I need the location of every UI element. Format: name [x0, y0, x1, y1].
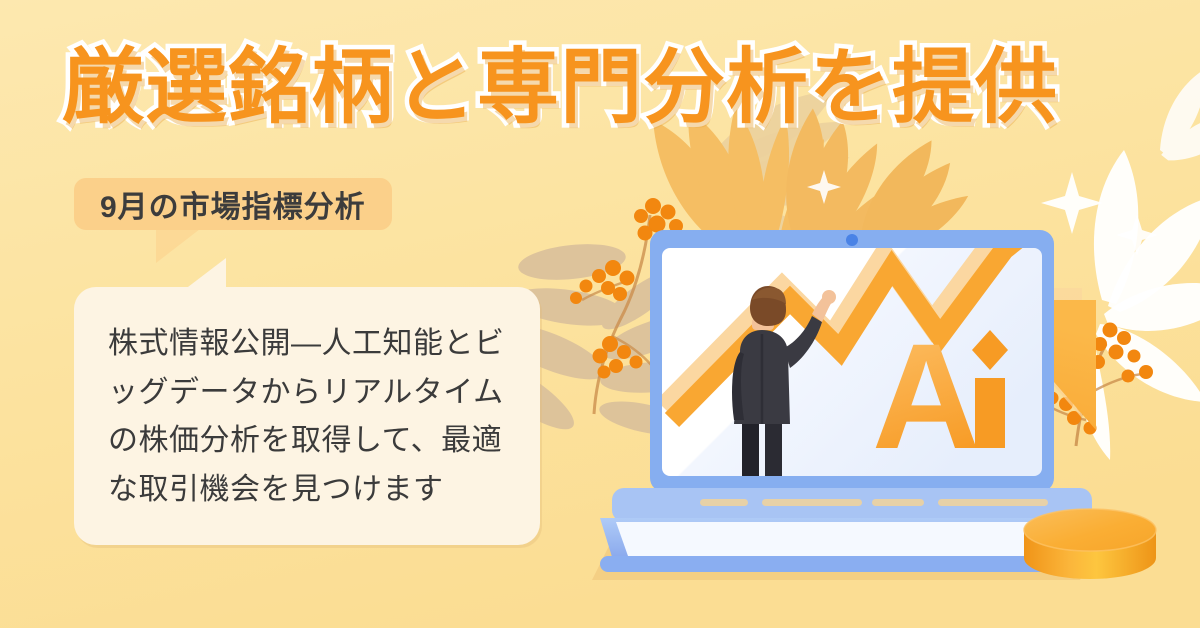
banner-canvas: A [0, 0, 1200, 628]
berry-branch-orange [570, 198, 712, 414]
laptop-ground-shadow [592, 520, 1112, 580]
businessman-pointing [730, 286, 836, 501]
upward-growth-arrow [886, 288, 1096, 470]
sparkle-star [807, 170, 1158, 256]
svg-text:A: A [872, 312, 982, 480]
leaf-white [1078, 63, 1200, 460]
description-bubble-tail [184, 258, 226, 290]
laptop-webcam-dot [846, 234, 858, 246]
rising-zigzag-line [672, 205, 1060, 420]
laptop-illustration: A [600, 193, 1104, 572]
ai-logo-mark: A [872, 312, 1008, 480]
gold-coin [1024, 509, 1156, 579]
keyboard-keys [700, 499, 1048, 506]
berry-branch-orange [1042, 323, 1153, 447]
page-title: 厳選銘柄と専門分析を提供 [62, 47, 1058, 129]
description-text: 株式情報公開—人工知能とビッグデータからリアルタイムの株価分析を取得して、最適な… [108, 320, 518, 514]
subtitle-badge: 9月の市場指標分析 [74, 178, 392, 230]
